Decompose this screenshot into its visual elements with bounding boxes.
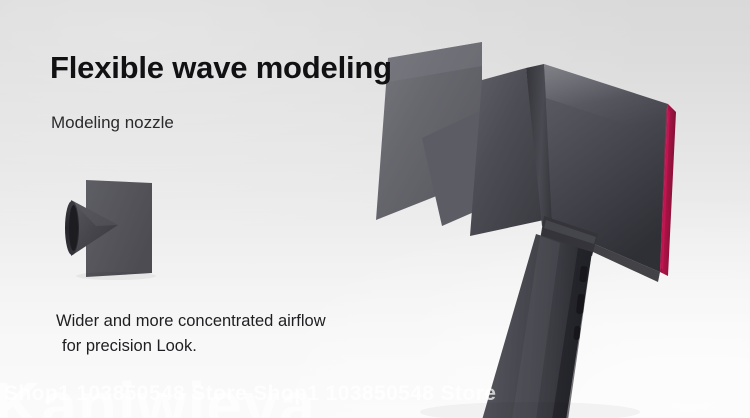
- hair-dryer-product: [330, 20, 750, 418]
- modeling-nozzle-accessory: [60, 176, 168, 280]
- feature-caption: Wider and more concentrated airflow for …: [56, 309, 326, 359]
- caption-line-2: for precision Look.: [56, 334, 326, 359]
- product-banner: Flexible wave modeling Modeling nozzle W…: [0, 0, 750, 418]
- accessory-collar-inner: [69, 205, 78, 251]
- caption-line-1: Wider and more concentrated airflow: [56, 312, 326, 330]
- hair-dryer-illustration: [330, 20, 750, 418]
- subtitle-label: Modeling nozzle: [51, 113, 174, 133]
- accessory-shadow: [76, 272, 156, 280]
- page-title: Flexible wave modeling: [50, 50, 392, 86]
- accessory-illustration: [60, 176, 168, 280]
- product-shadow: [420, 402, 640, 418]
